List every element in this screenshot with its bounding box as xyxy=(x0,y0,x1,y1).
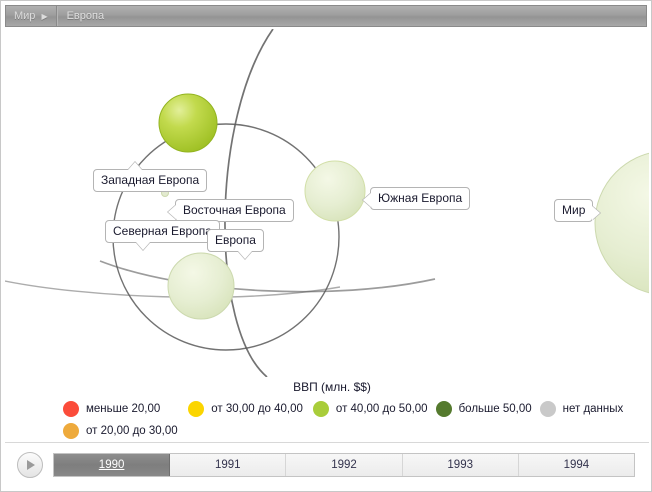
legend-swatch-icon xyxy=(436,401,452,417)
callout-tail-icon xyxy=(592,206,600,220)
callout-tail-icon xyxy=(363,193,371,207)
play-icon xyxy=(27,460,35,470)
legend-item-30-40[interactable]: от 30,00 до 40,00 xyxy=(188,399,303,419)
label-europe[interactable]: Европа xyxy=(207,229,264,252)
legend-item-more-50[interactable]: больше 50,00 xyxy=(436,399,532,419)
label-europe-text: Европа xyxy=(215,233,256,247)
label-southern-europe[interactable]: Южная Европа xyxy=(370,187,470,210)
callout-tail-icon xyxy=(238,251,252,259)
legend-item-20-30[interactable]: от 20,00 до 30,00 xyxy=(63,421,639,441)
legend-swatch-icon xyxy=(313,401,329,417)
western-europe-bubble xyxy=(159,94,217,152)
play-button[interactable] xyxy=(17,452,43,478)
legend-item-no-data-label: нет данных xyxy=(563,403,624,415)
label-western-europe-text: Западная Европа xyxy=(101,173,199,187)
label-world-text: Мир xyxy=(562,203,585,217)
legend-item-30-40-label: от 30,00 до 40,00 xyxy=(211,403,303,415)
breadcrumb-item-europe-label: Европа xyxy=(67,10,105,22)
label-eastern-europe[interactable]: Восточная Европа xyxy=(175,199,294,222)
timeline: 1990 1991 1992 1993 1994 xyxy=(5,442,649,487)
year-tick-1990[interactable]: 1990 xyxy=(54,454,170,476)
year-tick-1992[interactable]: 1992 xyxy=(286,454,402,476)
label-western-europe[interactable]: Западная Европа xyxy=(93,169,207,192)
legend-swatch-icon xyxy=(540,401,556,417)
year-tick-1994[interactable]: 1994 xyxy=(519,454,634,476)
legend-item-no-data[interactable]: нет данных xyxy=(540,399,624,419)
year-slider[interactable]: 1990 1991 1992 1993 1994 xyxy=(53,453,635,477)
callout-tail-icon xyxy=(128,162,142,170)
breadcrumb-item-world[interactable]: Мир ▶ xyxy=(6,6,57,26)
breadcrumb-item-world-label: Мир xyxy=(14,10,35,22)
legend-swatch-icon xyxy=(188,401,204,417)
legend-item-20-30-label: от 20,00 до 30,00 xyxy=(86,425,178,437)
legend-item-more-50-label: больше 50,00 xyxy=(459,403,532,415)
chevron-right-icon: ▶ xyxy=(41,12,47,21)
globe-graticule xyxy=(5,29,649,377)
southern-europe-bubble xyxy=(305,161,365,221)
label-world[interactable]: Мир xyxy=(554,199,593,222)
label-northern-europe[interactable]: Северная Европа xyxy=(105,220,220,243)
label-southern-europe-text: Южная Европа xyxy=(378,191,462,205)
gapminder-bubble-map-app: Мир ▶ Европа xyxy=(0,0,652,492)
legend-swatch-icon xyxy=(63,401,79,417)
map-canvas[interactable]: Западная Европа Восточная Европа Северна… xyxy=(5,29,649,377)
breadcrumb-item-europe[interactable]: Европа xyxy=(57,6,113,26)
legend-swatch-icon xyxy=(63,423,79,439)
callout-tail-icon xyxy=(168,205,176,219)
northern-europe-bubble xyxy=(168,253,234,319)
legend-item-less-20-label: меньше 20,00 xyxy=(86,403,160,415)
year-tick-1991[interactable]: 1991 xyxy=(170,454,286,476)
legend-item-less-20[interactable]: меньше 20,00 xyxy=(63,399,160,419)
world-bubble xyxy=(595,151,649,295)
legend-item-40-50-label: от 40,00 до 50,00 xyxy=(336,403,428,415)
legend-title: ВВП (млн. $$) xyxy=(5,379,649,395)
legend-item-40-50[interactable]: от 40,00 до 50,00 xyxy=(313,399,428,419)
legend-items: меньше 20,00 от 30,00 до 40,00 от 40,00 … xyxy=(5,399,649,441)
label-eastern-europe-text: Восточная Европа xyxy=(183,203,286,217)
callout-tail-icon xyxy=(136,242,150,250)
year-tick-1993[interactable]: 1993 xyxy=(403,454,519,476)
breadcrumb: Мир ▶ Европа xyxy=(5,5,647,27)
legend: ВВП (млн. $$) меньше 20,00 от 30,00 до 4… xyxy=(5,379,649,441)
label-northern-europe-text: Северная Европа xyxy=(113,224,212,238)
